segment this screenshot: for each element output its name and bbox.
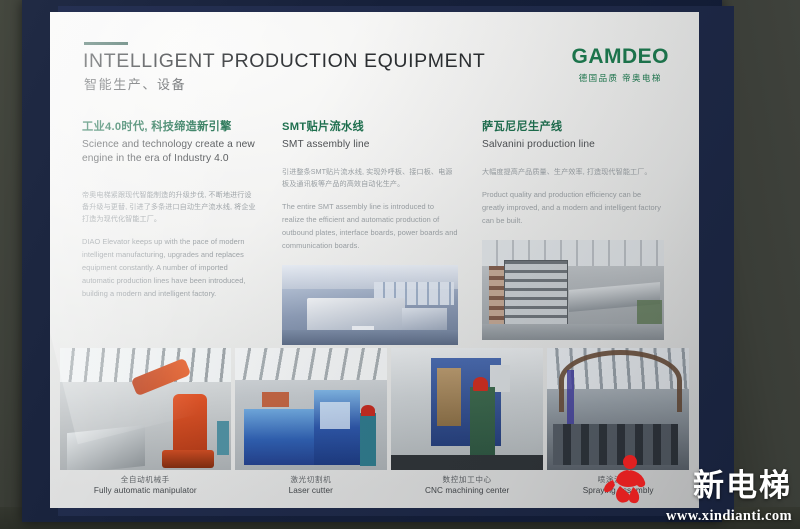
caption-en: Laser cutter bbox=[235, 485, 387, 497]
logo-wordmark-text: GAMDEO bbox=[572, 45, 670, 68]
caption-spraying-assembly: 喷涂流水线 Spraying assembly bbox=[547, 474, 689, 506]
brand-logo: GAMDEO 德国品质 帝奥电梯 bbox=[572, 46, 670, 84]
column-body-en: The entire SMT assembly line is introduc… bbox=[282, 201, 458, 253]
wall-right bbox=[724, 0, 800, 529]
column-body-zh: 帝奥电梯紧跟现代智能制造的升级步伐, 不断地进行设备升级与更替, 引进了多条进口… bbox=[82, 189, 258, 226]
smt-assembly-line-photo bbox=[282, 265, 458, 345]
column-body-zh: 引进整条SMT贴片流水线, 实现外呼板、接口板、电源板及通讯板等产品的高效自动化… bbox=[282, 166, 458, 190]
column-salvanini: 萨瓦尼尼生产线 Salvanini production line 大幅度提高产… bbox=[482, 120, 664, 345]
column-industry40: 工业4.0时代, 科技缔造新引擎 Science and technology … bbox=[82, 120, 258, 345]
photo-scene: INTELLIGENT PRODUCTION EQUIPMENT 智能生产、设备… bbox=[0, 0, 800, 529]
caption-robot-manipulator: 全自动机械手 Fully automatic manipulator bbox=[60, 474, 231, 506]
column-body-en: DIAO Elevator keeps up with the pace of … bbox=[82, 236, 258, 300]
column-heading-zh: SMT贴片流水线 bbox=[282, 120, 458, 135]
content-columns: 工业4.0时代, 科技缔造新引擎 Science and technology … bbox=[82, 120, 672, 345]
page-title: INTELLIGENT PRODUCTION EQUIPMENT bbox=[83, 50, 485, 73]
caption-zh: 激光切割机 bbox=[235, 474, 387, 485]
column-heading-en: SMT assembly line bbox=[282, 138, 458, 152]
column-heading-zh: 萨瓦尼尼生产线 bbox=[482, 120, 664, 135]
poster-board: INTELLIGENT PRODUCTION EQUIPMENT 智能生产、设备… bbox=[50, 12, 699, 508]
caption-zh: 全自动机械手 bbox=[60, 474, 231, 485]
column-heading-zh: 工业4.0时代, 科技缔造新引擎 bbox=[82, 120, 258, 135]
robot-manipulator-photo bbox=[60, 348, 231, 470]
caption-cnc-machining-center: 数控加工中心 CNC machining center bbox=[391, 474, 543, 506]
cnc-machining-center-photo bbox=[391, 348, 543, 470]
logo-wordmark: GAMDEO bbox=[572, 46, 670, 67]
caption-zh: 喷涂流水线 bbox=[547, 474, 689, 485]
column-heading-en: Science and technology create a new engi… bbox=[82, 138, 258, 166]
logo-tagline: 德国品质 帝奥电梯 bbox=[572, 72, 670, 84]
column-body-zh: 大幅度提高产品质量、生产效率, 打造现代智能工厂。 bbox=[482, 166, 664, 178]
caption-en: Fully automatic manipulator bbox=[60, 485, 231, 497]
column-heading-en: Salvanini production line bbox=[482, 138, 664, 152]
gallery-captions: 全自动机械手 Fully automatic manipulator 激光切割机… bbox=[60, 474, 689, 506]
salvanini-production-line-photo bbox=[482, 240, 664, 340]
caption-laser-cutter: 激光切割机 Laser cutter bbox=[235, 474, 387, 506]
gallery-photo-strip bbox=[60, 348, 689, 470]
laser-cutter-photo bbox=[235, 348, 387, 470]
caption-en: CNC machining center bbox=[391, 485, 543, 497]
caption-zh: 数控加工中心 bbox=[391, 474, 543, 485]
spraying-assembly-photo bbox=[547, 348, 689, 470]
column-smt: SMT贴片流水线 SMT assembly line 引进整条SMT贴片流水线,… bbox=[282, 120, 458, 345]
title-accent-rule bbox=[84, 42, 128, 45]
column-body-en: Product quality and production efficienc… bbox=[482, 189, 664, 228]
caption-en: Spraying assembly bbox=[547, 485, 689, 497]
page-subtitle: 智能生产、设备 bbox=[84, 74, 186, 93]
